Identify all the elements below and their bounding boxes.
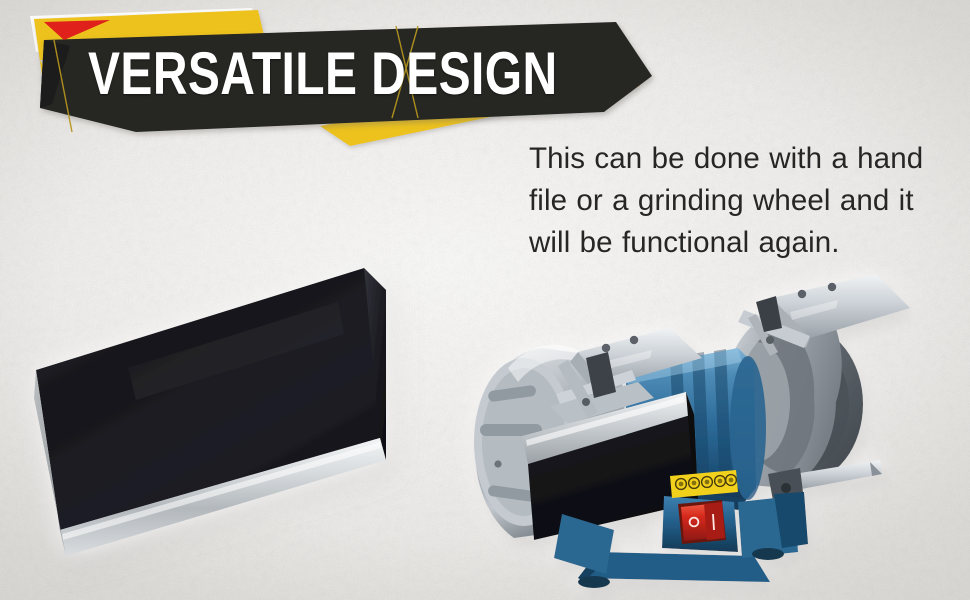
right-rest-bolt	[781, 483, 791, 493]
power-switch[interactable]	[678, 500, 726, 544]
banner-plate	[40, 22, 652, 132]
banner: VERSATILE DESIGN	[0, 0, 660, 150]
bench-grinder-product-image	[438, 252, 970, 600]
left-guard-screw	[494, 460, 501, 467]
planer-blade-product-image	[8, 248, 448, 578]
poster-canvas: VERSATILE DESIGN This can be done with a…	[0, 0, 970, 600]
base-foot-left	[578, 576, 610, 588]
banner-shapes	[0, 0, 660, 152]
base-foot-right	[752, 548, 784, 560]
body-paragraph: This can be done with a hand file or a g…	[529, 138, 959, 264]
